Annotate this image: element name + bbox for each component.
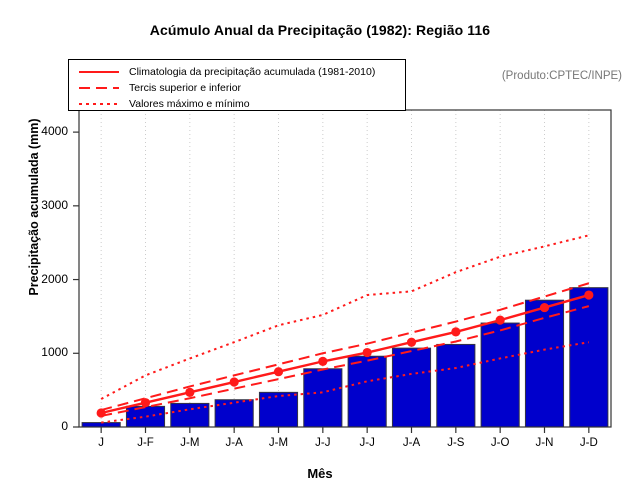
data-point bbox=[584, 290, 593, 299]
bar-J-J bbox=[348, 356, 386, 427]
x-tick-label-J-M: J-M bbox=[254, 437, 304, 449]
x-tick-label-J-J: J-J bbox=[298, 437, 348, 449]
x-tick-label-J-D: J-D bbox=[564, 437, 614, 449]
data-point bbox=[451, 327, 460, 336]
y-tick-label-3000: 3000 bbox=[0, 198, 68, 212]
bar-J-A bbox=[392, 348, 430, 427]
y-tick-label-1000: 1000 bbox=[0, 345, 68, 359]
x-axis-title: Mês bbox=[0, 466, 640, 481]
bar-J-S bbox=[437, 344, 475, 427]
data-point bbox=[540, 303, 549, 312]
x-tick-label-J: J bbox=[76, 437, 126, 449]
y-tick-label-0: 0 bbox=[0, 419, 68, 433]
producer-annotation: (Produto:CPTEC/INPE) bbox=[502, 70, 622, 82]
x-tick-label-J-N: J-N bbox=[520, 437, 570, 449]
bar-J-D bbox=[570, 288, 608, 427]
legend-line-dashed-icon bbox=[77, 82, 121, 94]
chart-root: Acúmulo Anual da Precipitação (1982): Re… bbox=[0, 0, 640, 500]
bar-J-J bbox=[304, 369, 342, 427]
bar-J-A bbox=[215, 400, 253, 427]
legend-label-terciles: Tercis superior e inferior bbox=[129, 82, 241, 94]
bar-J bbox=[82, 423, 120, 427]
bar-J-M bbox=[171, 403, 209, 427]
x-tick-label-J-F: J-F bbox=[121, 437, 171, 449]
bar-J-M bbox=[259, 392, 297, 427]
legend-item-maxmin: Valores máximo e mínimo bbox=[77, 97, 250, 111]
y-tick-label-2000: 2000 bbox=[0, 272, 68, 286]
legend-line-dotted-icon bbox=[77, 98, 121, 110]
x-tick-label-J-J: J-J bbox=[342, 437, 392, 449]
y-tick-label-4000: 4000 bbox=[0, 124, 68, 138]
x-tick-label-J-A: J-A bbox=[387, 437, 437, 449]
data-point bbox=[318, 357, 327, 366]
legend-item-terciles: Tercis superior e inferior bbox=[77, 81, 241, 95]
x-tick-label-J-M: J-M bbox=[165, 437, 215, 449]
legend-line-solid-icon bbox=[77, 66, 121, 78]
page-title: Acúmulo Anual da Precipitação (1982): Re… bbox=[0, 22, 640, 38]
chart-legend: Climatologia da precipitação acumulada (… bbox=[68, 59, 406, 111]
data-point bbox=[407, 338, 416, 347]
bar-J-N bbox=[525, 300, 563, 427]
bar-J-O bbox=[481, 323, 519, 427]
legend-label-maxmin: Valores máximo e mínimo bbox=[129, 98, 250, 110]
data-point bbox=[496, 316, 505, 325]
data-point bbox=[185, 388, 194, 397]
data-point bbox=[274, 367, 283, 376]
legend-label-climatology: Climatologia da precipitação acumulada (… bbox=[129, 66, 375, 78]
x-tick-label-J-A: J-A bbox=[209, 437, 259, 449]
data-point bbox=[363, 348, 372, 357]
data-point bbox=[230, 377, 239, 386]
x-tick-label-J-S: J-S bbox=[431, 437, 481, 449]
x-tick-label-J-O: J-O bbox=[475, 437, 525, 449]
bar-J-F bbox=[126, 406, 164, 427]
legend-item-climatology: Climatologia da precipitação acumulada (… bbox=[77, 65, 375, 79]
